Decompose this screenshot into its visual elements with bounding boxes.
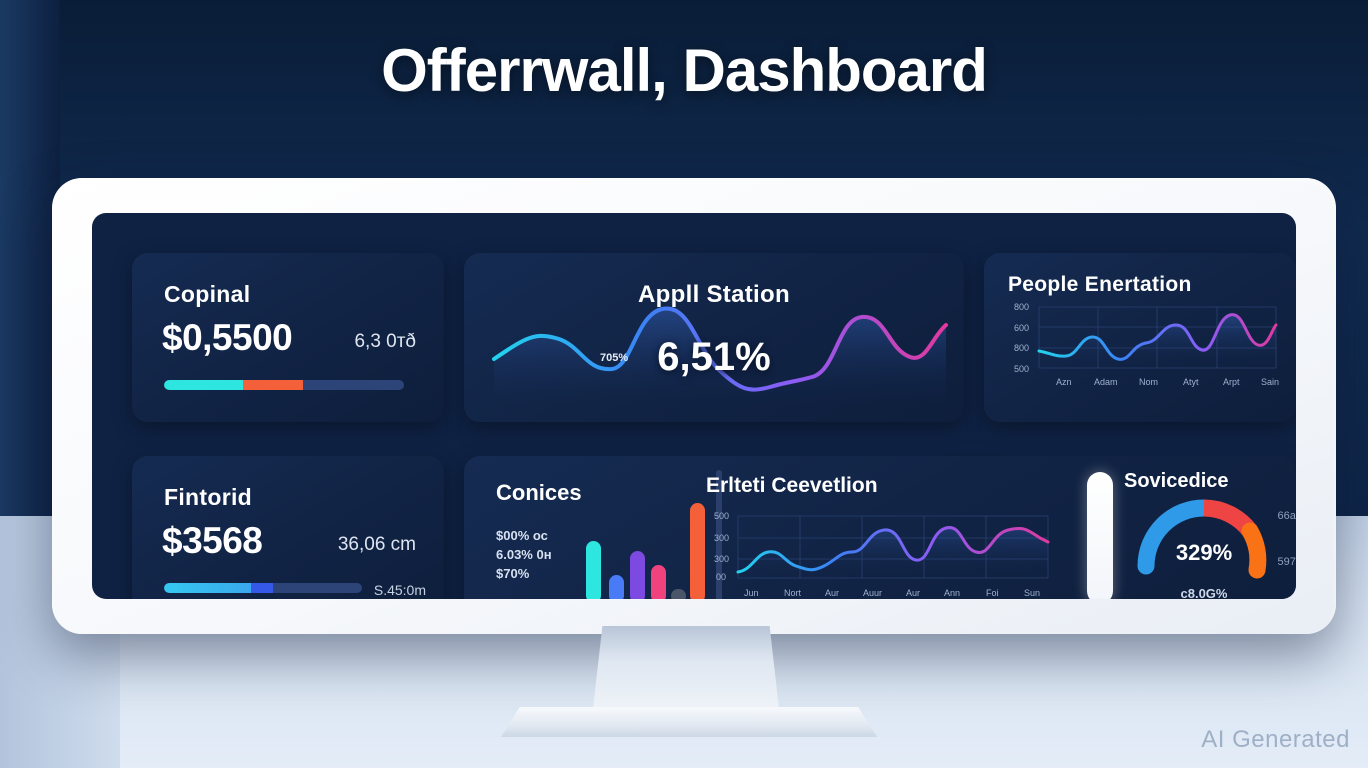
card-copinal-value: $0,5500 — [162, 317, 292, 359]
bar-2 — [609, 575, 624, 599]
card-people-enertation[interactable]: People Enertation — [984, 253, 1296, 422]
sovicedice-footer-label: c8.0G% — [1144, 586, 1264, 599]
people-xtick-5: Sain — [1261, 377, 1279, 387]
bar-5 — [671, 589, 686, 599]
people-enertation-area-chart: 800 600 800 500 Azn Adam Nom Atyt Arpt S… — [984, 253, 1296, 422]
card-appll-station[interactable]: Appll Station 705% — [464, 253, 964, 422]
erlteti-ytick-0: 500 — [714, 511, 729, 521]
conices-bar-chart — [586, 497, 694, 599]
card-copinal-subvalue: 6,3 0тð — [354, 331, 416, 353]
erlteti-xtick-6: Foi — [986, 588, 999, 598]
people-ytick-2: 800 — [1014, 343, 1029, 353]
card-fintorid-progress-bar[interactable] — [164, 583, 362, 593]
monitor-stand-base — [501, 707, 877, 737]
card-fintorid-value: $3568 — [162, 520, 262, 562]
erlteti-ceevetlion-area-chart: 500 300 300 00 Jun Nort Aur Auur Aur Ann… — [696, 466, 1066, 599]
erlteti-xtick-5: Ann — [944, 588, 960, 598]
card-fintorid-track-label: S.45:0m — [374, 582, 426, 598]
erlteti-ceevetlion-chart-area: Erlteti Ceevetlion — [696, 466, 1066, 599]
card-copinal[interactable]: Copinal $0,5500 6,3 0тð — [132, 253, 444, 422]
people-xtick-2: Nom — [1139, 377, 1158, 387]
erlteti-xtick-4: Aur — [906, 588, 920, 598]
erlteti-xtick-2: Aur — [825, 588, 839, 598]
page-title: Offerrwall, Dashboard — [0, 36, 1368, 105]
sovicedice-legend-1: 5978 — [1278, 556, 1296, 568]
ai-generated-watermark: AI Generated — [1201, 726, 1350, 754]
card-copinal-progress-bar[interactable] — [164, 380, 404, 390]
people-ytick-1: 600 — [1014, 323, 1029, 333]
erlteti-xtick-7: Sun — [1024, 588, 1040, 598]
conices-stat-1: 6.03% 0н — [496, 545, 552, 564]
progress-segment-cyan — [164, 380, 243, 390]
card-copinal-title: Copinal — [164, 281, 250, 308]
card-fintorid-subvalue: 36,06 cm — [338, 534, 416, 556]
sovicedice-gauge-widget[interactable]: Sovicedice 329% c8.0G% 66an 5978 — [1124, 464, 1294, 599]
monitor-bezel: Copinal $0,5500 6,3 0тð Appll Station — [52, 178, 1336, 634]
people-xtick-0: Azn — [1056, 377, 1072, 387]
erlteti-ytick-2: 300 — [714, 554, 729, 564]
people-ytick-0: 800 — [1014, 302, 1029, 312]
people-xtick-1: Adam — [1094, 377, 1118, 387]
monitor-screen: Copinal $0,5500 6,3 0тð Appll Station — [92, 213, 1296, 599]
sovicedice-legend-0: 66an — [1278, 510, 1296, 522]
erlteti-xtick-3: Auur — [863, 588, 882, 598]
panel-white-pill-divider — [1087, 472, 1113, 599]
erlteti-xtick-1: Nort — [784, 588, 802, 598]
conices-stat-2: $70% — [496, 564, 552, 583]
progress-segment-blue — [251, 583, 273, 593]
progress-segment-orange — [243, 380, 303, 390]
progress-segment-cyan — [164, 583, 251, 593]
erlteti-xtick-0: Jun — [744, 588, 759, 598]
card-fintorid-title: Fintorid — [164, 484, 252, 511]
bar-4 — [651, 565, 666, 599]
bar-1 — [586, 541, 601, 599]
conices-title: Conices — [496, 480, 582, 506]
card-analytics-panel[interactable]: Conices $00% ос 6.03% 0н $70% Erlteti Ce… — [464, 456, 1296, 599]
erlteti-ytick-1: 300 — [714, 533, 729, 543]
conices-stats: $00% ос 6.03% 0н $70% — [496, 526, 552, 583]
conices-stat-0: $00% ос — [496, 526, 552, 545]
appll-station-value: 6,51% — [464, 335, 964, 380]
card-fintorid[interactable]: Fintorid $3568 36,06 cm S.45:0m — [132, 456, 444, 599]
people-xtick-4: Arpt — [1223, 377, 1240, 387]
sovicedice-gauge-chart — [1124, 464, 1294, 599]
people-xtick-3: Atyt — [1183, 377, 1199, 387]
erlteti-ytick-3: 00 — [716, 572, 726, 582]
people-ytick-3: 500 — [1014, 364, 1029, 374]
sovicedice-value: 329% — [1152, 540, 1256, 566]
bar-3 — [630, 551, 645, 599]
